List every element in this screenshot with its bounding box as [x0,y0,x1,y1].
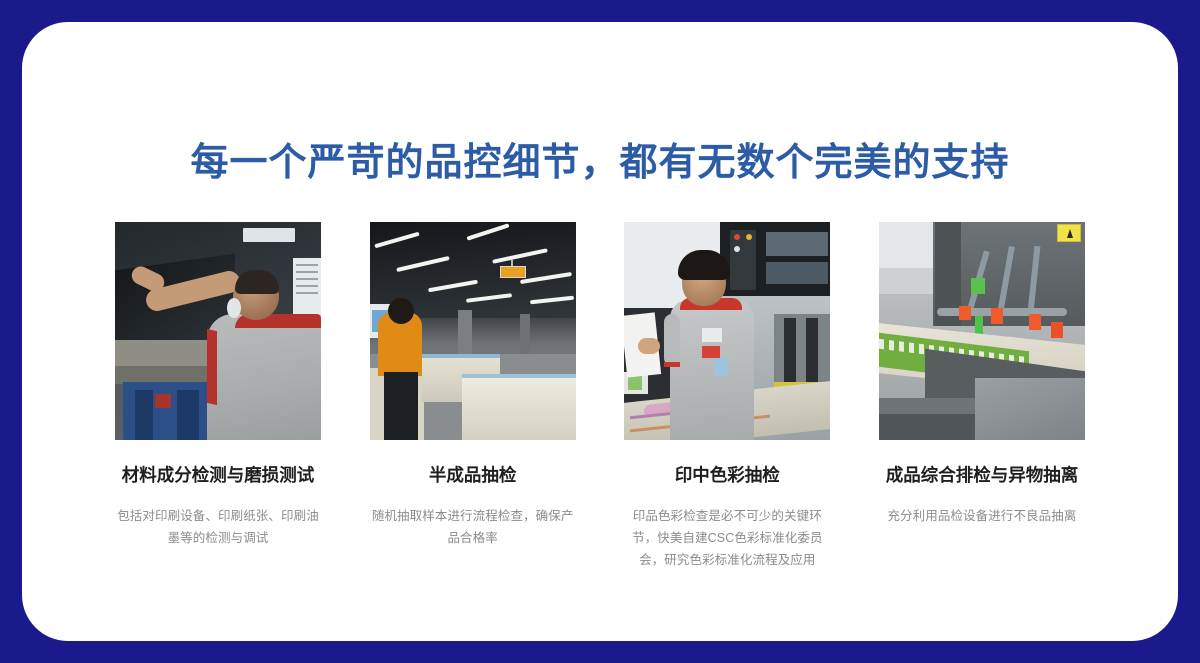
worker-legs-shape [384,372,418,440]
card-title: 印中色彩抽检 [675,464,780,487]
page-title: 每一个严苛的品控细节，都有无数个完美的支持 [22,140,1178,188]
quality-control-card-grid: 材料成分检测与磨损测试 包括对印刷设备、印刷纸张、印刷油墨等的检测与调试 [115,222,1085,571]
worker-mask-shape [227,298,241,318]
worker-torso-shape [670,300,754,440]
card-description: 随机抽取样本进行流程检查，确保产品合格率 [370,505,576,549]
orange-clamp-shape [959,306,971,320]
pillar-shape [458,310,472,358]
console-screen-shape [766,262,828,284]
card-photo-semifinished-inspection [370,222,576,440]
quality-card[interactable]: 半成品抽检 随机抽取样本进行流程检查，确保产品合格率 [370,222,576,549]
worker-sleeve-shape [664,314,680,366]
machine-label-shape [243,228,295,242]
worker-badge-shape [702,328,722,342]
pillar-shape [520,314,530,354]
content-panel: 每一个严苛的品控细节，都有无数个完美的支持 [22,22,1178,641]
worker-pocket-card-shape [714,358,728,376]
worker-logo-shape [702,346,720,358]
machine-base-shadow-shape [879,414,979,440]
worker-torso-shape [207,314,321,440]
paper-stack-shape [462,378,576,440]
green-guide-shape [971,278,985,294]
card-photo-material-testing [115,222,321,440]
worker-hand-shape [638,338,660,354]
pallet-tag-shape [155,394,171,408]
page-root: 每一个严苛的品控细节，都有无数个完美的支持 [0,0,1200,663]
worker-shirt-stripe-shape [207,329,217,405]
card-photo-final-inspection [879,222,1085,440]
background-shelf-shape [879,268,935,294]
hanging-sign-shape [500,266,526,278]
orange-clamp-shape [1051,322,1063,338]
quality-card[interactable]: 成品综合排检与异物抽离 充分利用品检设备进行不良品抽离 [879,222,1085,527]
orange-clamp-shape [1029,314,1041,330]
card-title: 半成品抽检 [429,464,517,487]
card-title: 材料成分检测与磨损测试 [122,464,315,487]
worker-head-shape [388,298,414,324]
delivery-table-shape [975,378,1085,440]
wall-document-shape [293,258,321,320]
pallet-slot-shape [135,390,153,440]
warning-label-icon [1057,224,1081,242]
worker-hair-shape [235,270,279,294]
orange-clamp-shape [991,308,1003,324]
card-description: 印品色彩检查是必不可少的关键环节，快美自建CSC色彩标准化委员会，研究色彩标准化… [621,505,833,571]
table-box-label-shape [628,376,642,390]
card-description: 包括对印刷设备、印刷纸张、印刷油墨等的检测与调试 [115,505,321,549]
worker-cuff-shape [664,362,680,367]
console-screen-shape [766,232,828,256]
card-description: 充分利用品检设备进行不良品抽离 [879,505,1085,527]
quality-card[interactable]: 印中色彩抽检 印品色彩检查是必不可少的关键环节，快美自建CSC色彩标准化委员会，… [624,222,830,571]
pallet-slot-shape [177,390,199,440]
quality-card[interactable]: 材料成分检测与磨损测试 包括对印刷设备、印刷纸张、印刷油墨等的检测与调试 [115,222,321,549]
card-title: 成品综合排检与异物抽离 [886,464,1079,487]
card-photo-color-inspection [624,222,830,440]
